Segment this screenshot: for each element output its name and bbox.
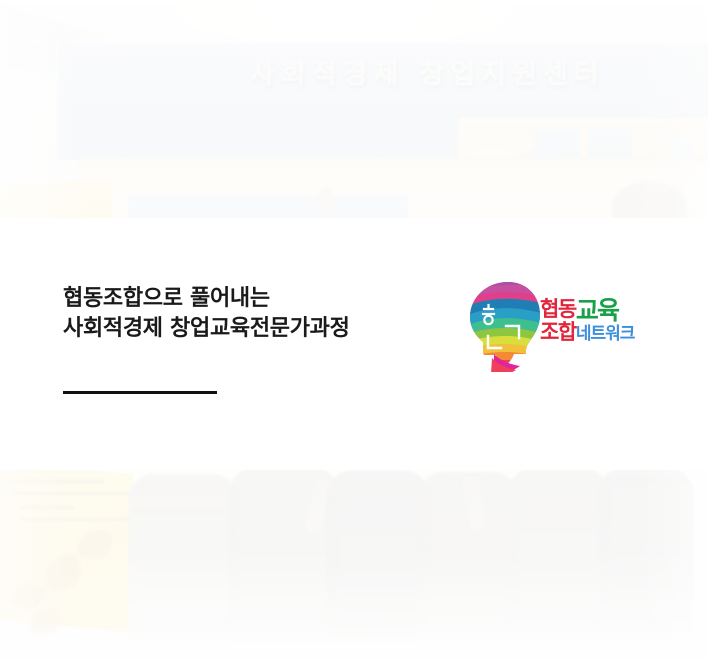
presentation-slide: 사회적경제 창업지원센터 협동조합으로 풀어내는 사회적경제 창업교육전문가과정 [0,0,708,660]
signage-wall-edge [56,42,59,160]
poster-text-line [20,518,130,521]
title-content-band: 협동조합으로 풀어내는 사회적경제 창업교육전문가과정 [0,218,708,470]
page-title: 협동조합으로 풀어내는 사회적경제 창업교육전문가과정 [63,284,350,344]
center-signage-text: 사회적경제 창업지원센터 [250,52,670,91]
title-line-2: 사회적경제 창업교육전문가과정 [63,314,350,344]
logo-education-text: 교육 [576,298,635,323]
logo-network-text: 네트워크 [576,326,635,343]
poster-text-line [14,492,132,495]
rainbow-head-profile-icon [464,280,544,372]
logo-wordmark: 협동 조합 교육 네트워크 [540,298,682,360]
title-line-1: 협동조합으로 풀어내는 [63,284,350,314]
bottom-banner-photo [0,470,708,660]
top-banner-photo-base: 사회적경제 창업지원센터 [0,0,708,218]
logo-coop-text: 협동 조합 [540,299,576,343]
ceiling-light [180,0,510,46]
floor-area [0,626,708,660]
bottom-banner-photo-base [0,470,708,660]
world-map-board [128,196,408,218]
logo-coop-line-1: 협동 [540,299,576,320]
poster-text-line [8,480,104,483]
raised-hand [318,186,334,218]
top-banner-photo: 사회적경제 창업지원센터 [0,0,708,218]
yellow-notice-poster [0,180,113,218]
poster-text-line [20,506,74,509]
organization-logo: 협동 조합 교육 네트워크 [464,280,680,372]
logo-coop-line-2: 조합 [540,322,576,343]
logo-edu-net-text: 교육 네트워크 [576,298,635,343]
title-underline-rule [63,391,217,394]
person-head-right [612,182,686,218]
